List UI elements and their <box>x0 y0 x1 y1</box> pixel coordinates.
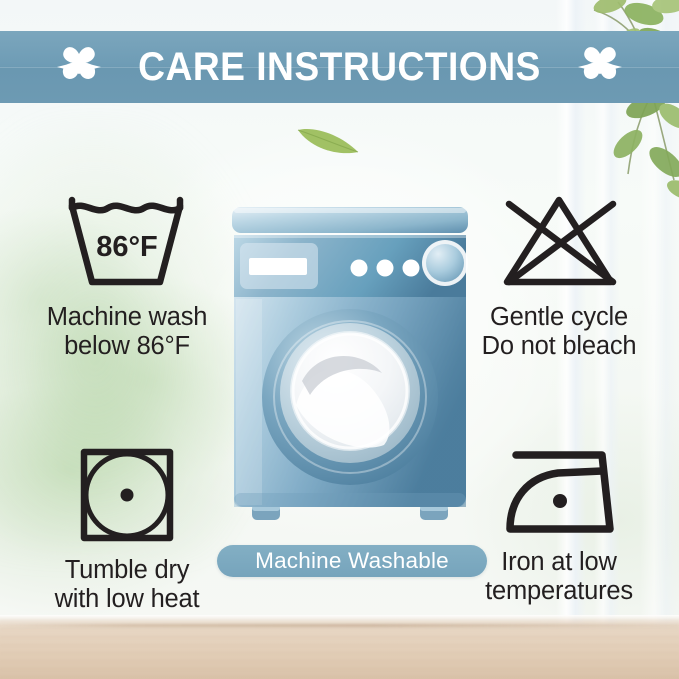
fleur-de-lis-icon <box>49 42 109 92</box>
care-item-tumble-dry-low: Tumble dry with low heat <box>18 443 236 614</box>
washer-drum-door <box>262 309 438 485</box>
care-instructions-graphic: CARE INSTRUCTIONS 86°F Machine wash belo… <box>0 0 679 679</box>
table-edge-line <box>0 624 679 627</box>
care-item-label: Machine wash below 86°F <box>47 303 208 361</box>
control-buttons <box>351 260 420 277</box>
care-item-label: Gentle cycle Do not bleach <box>482 303 637 361</box>
washer-feet <box>252 505 448 520</box>
care-item-machine-wash: 86°F Machine wash below 86°F <box>18 190 236 361</box>
care-item-iron-low-temp: Iron at low temperatures <box>448 443 670 606</box>
care-item-label: Iron at low temperatures <box>485 548 633 606</box>
page-title: CARE INSTRUCTIONS <box>138 47 541 87</box>
wash-temperature-value: 86°F <box>96 231 158 263</box>
washing-machine-icon <box>224 205 476 540</box>
wash-tub-icon: 86°F <box>62 190 192 294</box>
heat-level-dot <box>121 489 134 502</box>
badge-label: Machine Washable <box>255 550 449 573</box>
care-item-gentle-cycle-no-bleach: Gentle cycle Do not bleach <box>448 190 670 361</box>
care-item-label: Tumble dry with low heat <box>55 556 200 614</box>
machine-washable-badge: Machine Washable <box>217 545 487 577</box>
iron-icon <box>498 443 620 539</box>
header-banner: CARE INSTRUCTIONS <box>0 31 679 103</box>
triangle-crossed-out-icon <box>493 190 625 294</box>
detergent-drawer <box>240 243 318 289</box>
fleur-de-lis-icon <box>570 42 630 92</box>
heat-level-dot <box>553 494 567 508</box>
tumble-dry-icon <box>75 443 179 547</box>
program-knob <box>422 240 468 286</box>
